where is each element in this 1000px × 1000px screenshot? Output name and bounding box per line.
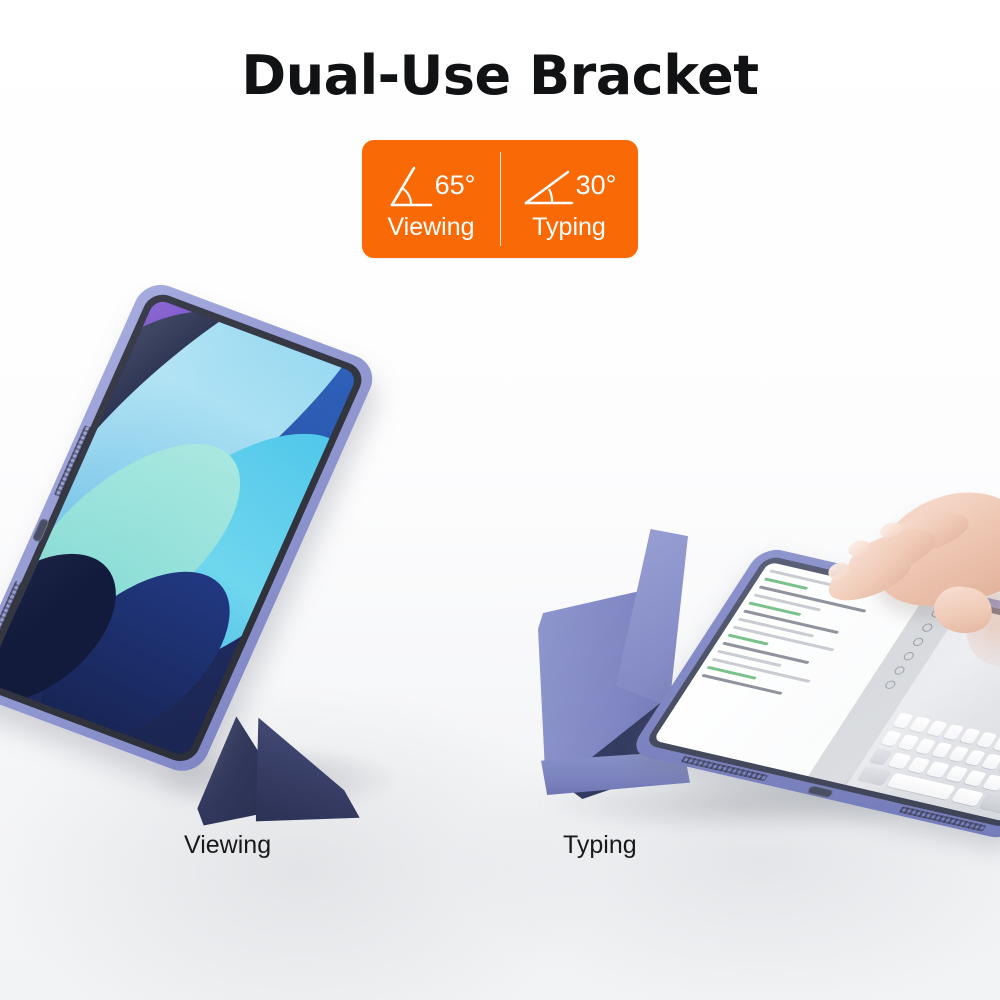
angle-30-icon — [522, 165, 574, 209]
product-feature-image: Dual-Use Bracket 65° Viewing — [0, 0, 1000, 1000]
stand-panel-front — [252, 714, 360, 826]
dual-mode-badge: 65° Viewing 30° Typing — [362, 140, 638, 258]
scene-viewing — [0, 290, 420, 850]
badge-viewing-icon-row: 65° — [387, 165, 476, 213]
badge-typing-angle: 30° — [576, 172, 617, 199]
badge-mode-viewing: 65° Viewing — [362, 140, 500, 258]
viewing-folded-stand — [194, 712, 358, 828]
badge-viewing-angle: 65° — [435, 172, 476, 199]
typing-hand — [816, 495, 1000, 670]
scene-typing — [520, 505, 1000, 845]
caption-viewing: Viewing — [184, 831, 271, 860]
badge-mode-typing: 30° Typing — [500, 140, 638, 258]
viewing-tablet-bezel — [0, 289, 368, 766]
viewing-tablet — [0, 278, 381, 779]
toolbar-icon-6 — [883, 680, 897, 690]
caption-typing: Typing — [563, 831, 637, 860]
viewing-tablet-screen — [0, 298, 358, 757]
angle-65-icon — [387, 165, 433, 209]
badge-viewing-label: Viewing — [387, 215, 474, 240]
page-title: Dual-Use Bracket — [0, 44, 1000, 107]
badge-typing-label: Typing — [532, 215, 606, 240]
badge-typing-icon-row: 30° — [522, 165, 617, 213]
